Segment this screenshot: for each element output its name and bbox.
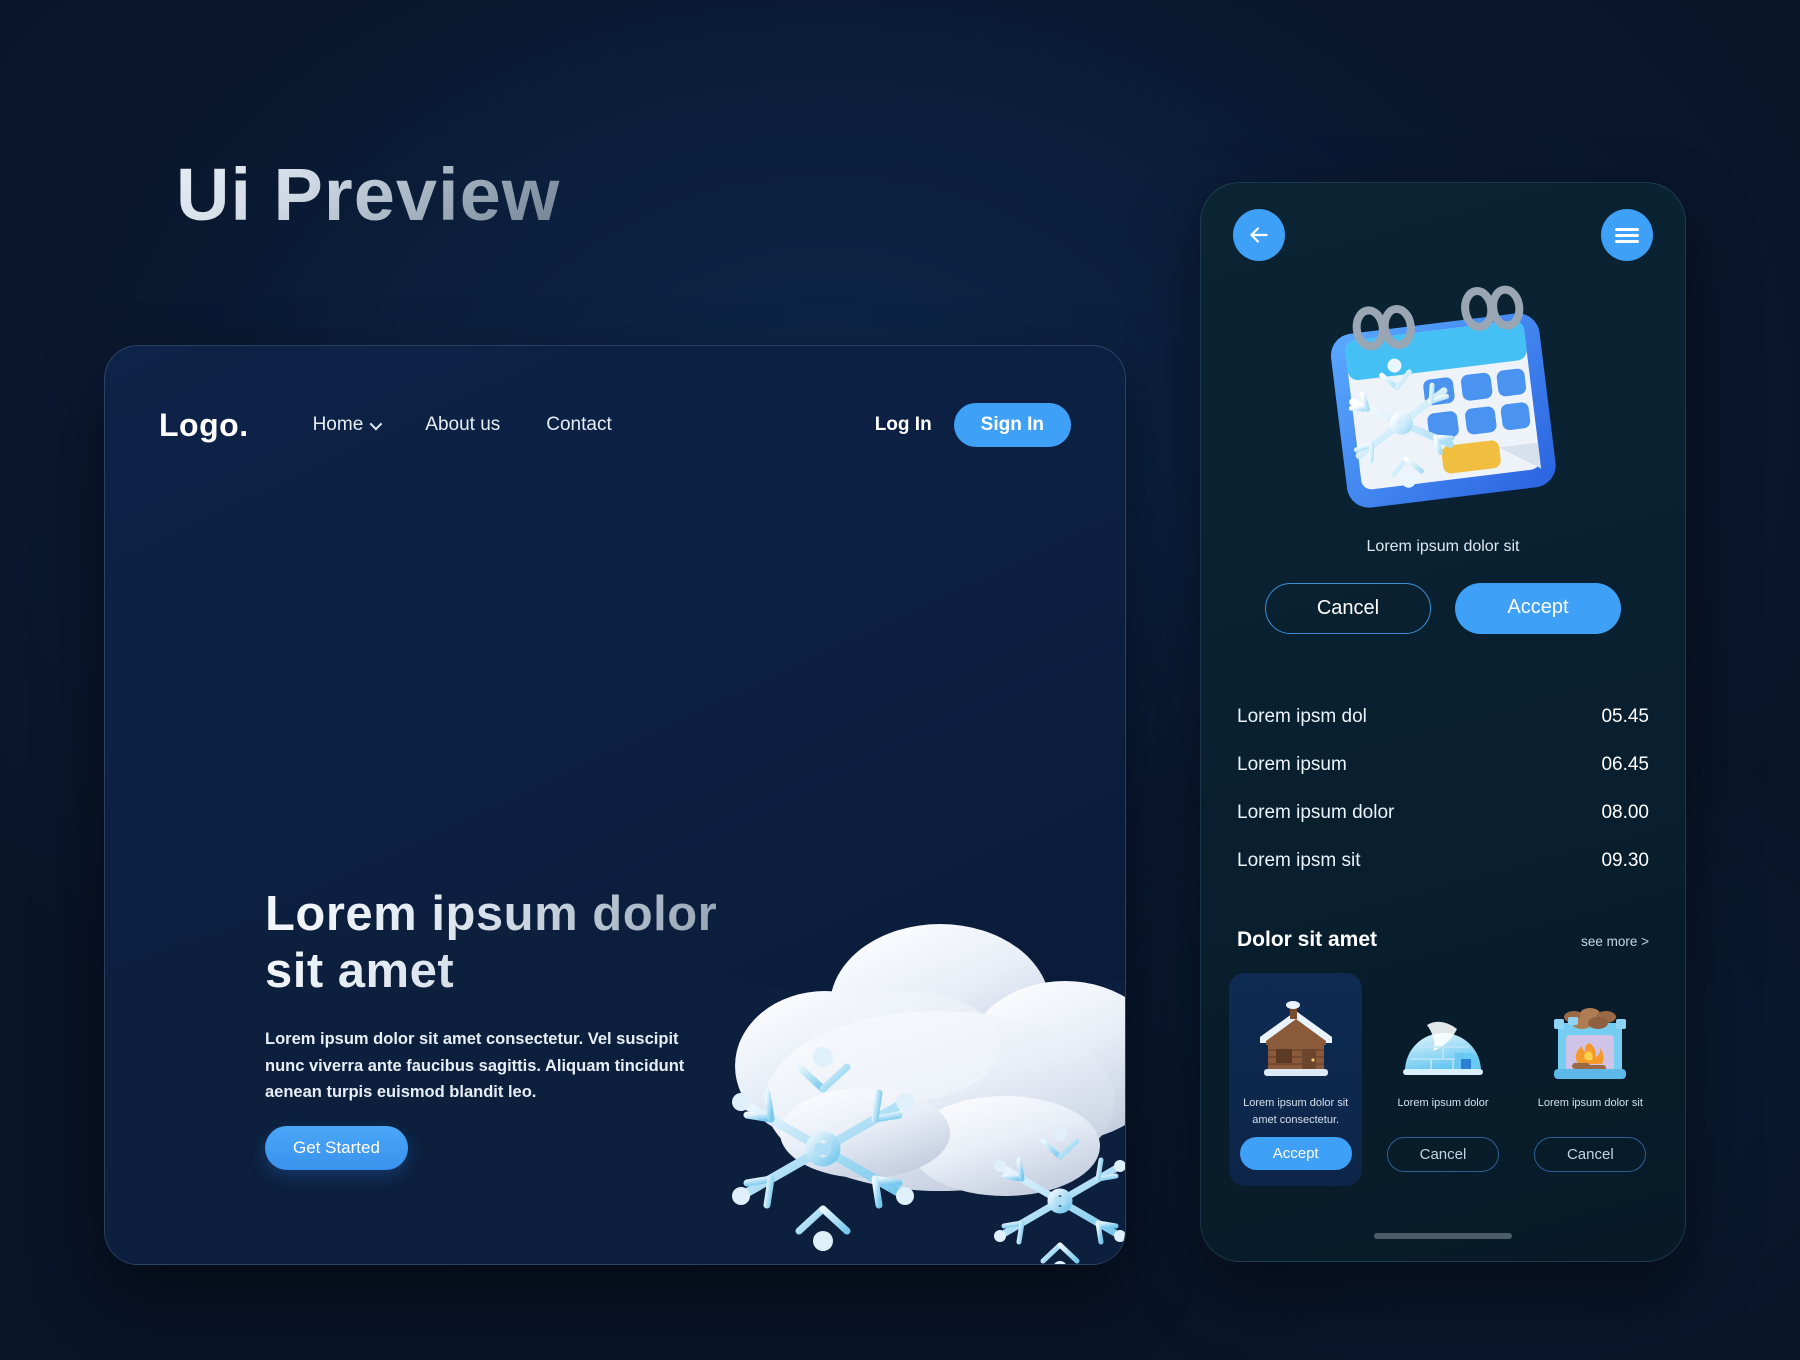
arrow-left-icon — [1246, 222, 1272, 248]
desktop-navbar: Logo. Home About us Contact Log In Sign … — [159, 402, 1071, 448]
list-item-value: 05.45 — [1601, 706, 1649, 728]
back-button[interactable] — [1233, 209, 1285, 261]
menu-button[interactable] — [1601, 209, 1653, 261]
nav-links: Home About us Contact — [313, 414, 612, 436]
cancel-button[interactable]: Cancel — [1534, 1137, 1646, 1172]
snow-cabin-icon — [1250, 989, 1342, 1085]
mobile-action-row: Cancel Accept — [1201, 583, 1685, 634]
hero-heading: Lorem ipsum dolor sit amet — [265, 886, 735, 1000]
cancel-button[interactable]: Cancel — [1265, 583, 1431, 634]
list-item-label: Lorem ipsm sit — [1237, 850, 1361, 872]
mobile-card-row: Lorem ipsum dolor sit amet consectetur. … — [1229, 973, 1657, 1186]
login-link[interactable]: Log In — [875, 414, 932, 436]
signin-button[interactable]: Sign In — [954, 403, 1071, 447]
list-item-label: Lorem ipsum — [1237, 754, 1347, 776]
home-indicator — [1374, 1233, 1512, 1239]
desktop-preview-panel: Logo. Home About us Contact Log In Sign … — [104, 345, 1126, 1265]
list-item-value: 09.30 — [1601, 850, 1649, 872]
nav-item-contact[interactable]: Contact — [546, 414, 611, 436]
see-more-link[interactable]: see more > — [1581, 934, 1649, 949]
chevron-down-icon — [370, 417, 383, 430]
mobile-card-caption: Lorem ipsum dolor sit — [1538, 1095, 1643, 1129]
accept-button[interactable]: Accept — [1240, 1137, 1352, 1170]
list-item[interactable]: Lorem ipsum dolor 08.00 — [1237, 789, 1649, 837]
schedule-list: Lorem ipsm dol 05.45 Lorem ipsum 06.45 L… — [1237, 693, 1649, 885]
hero-paragraph: Lorem ipsum dolor sit amet consectetur. … — [265, 1026, 695, 1106]
mobile-card[interactable]: Lorem ipsum dolor sit Cancel — [1524, 973, 1657, 1186]
mobile-hero-caption: Lorem ipsum dolor sit — [1201, 538, 1685, 556]
nav-item-home-label: Home — [313, 414, 364, 436]
nav-actions: Log In Sign In — [875, 403, 1071, 447]
list-item[interactable]: Lorem ipsm sit 09.30 — [1237, 837, 1649, 885]
list-item-value: 06.45 — [1601, 754, 1649, 776]
logo[interactable]: Logo. — [159, 407, 249, 444]
hero-get-started-button[interactable]: Get Started — [265, 1126, 408, 1170]
fireplace-icon — [1544, 989, 1636, 1085]
igloo-icon — [1397, 989, 1489, 1085]
page-title: Ui Preview — [176, 152, 560, 237]
list-item[interactable]: Lorem ipsm dol 05.45 — [1237, 693, 1649, 741]
section-title: Dolor sit amet — [1237, 928, 1377, 952]
mobile-card[interactable]: Lorem ipsum dolor Cancel — [1376, 973, 1509, 1186]
hamburger-menu-icon — [1615, 225, 1639, 246]
mobile-card-caption: Lorem ipsum dolor sit amet consectetur. — [1237, 1095, 1354, 1129]
list-item-label: Lorem ipsm dol — [1237, 706, 1367, 728]
list-item-value: 08.00 — [1601, 802, 1649, 824]
list-item[interactable]: Lorem ipsum 06.45 — [1237, 741, 1649, 789]
accept-button[interactable]: Accept — [1455, 583, 1621, 634]
mobile-card[interactable]: Lorem ipsum dolor sit amet consectetur. … — [1229, 973, 1362, 1186]
mobile-card-caption: Lorem ipsum dolor — [1397, 1095, 1488, 1129]
snow-cloud-icon — [705, 871, 1126, 1265]
snow-calendar-icon — [1308, 278, 1578, 528]
section-header: Dolor sit amet see more > — [1237, 928, 1649, 952]
mobile-preview-panel: Lorem ipsum dolor sit Cancel Accept Lore… — [1200, 182, 1686, 1262]
cancel-button[interactable]: Cancel — [1387, 1137, 1499, 1172]
nav-item-about[interactable]: About us — [425, 414, 500, 436]
list-item-label: Lorem ipsum dolor — [1237, 802, 1394, 824]
nav-item-home[interactable]: Home — [313, 414, 380, 436]
